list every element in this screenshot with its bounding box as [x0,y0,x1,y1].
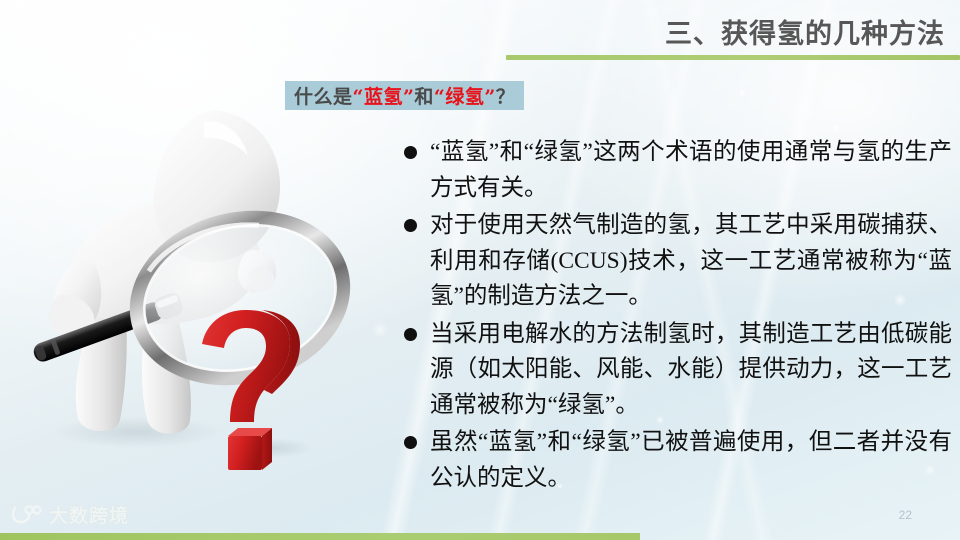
page-number: 22 [899,508,912,522]
watermark-text: 大数跨境 [49,501,129,528]
bullet-dot-icon [404,328,417,341]
subtitle-lead-text: 什么是 [294,82,353,109]
bullet-dot-icon [404,436,417,449]
list-item: “蓝氢”和“绿氢”这两个术语的使用通常与氢的生产方式有关。 [404,135,952,206]
list-item: 对于使用天然气制造的氢，其工艺中采用碳捕获、利用和存储(CCUS)技术，这一工艺… [404,208,952,315]
list-item: 虽然“蓝氢”和“绿氢”已被普遍使用，但二者并没有公认的定义。 [404,425,952,496]
list-item: 当采用电解水的方法制氢时，其制造工艺由低碳能源（如太阳能、风能、水能）提供动力，… [404,317,952,424]
bullet-text: 当采用电解水的方法制氢时，其制造工艺由低碳能源（如太阳能、风能、水能）提供动力，… [430,317,952,424]
3d-person-with-magnifier-icon [8,100,378,470]
bullet-dot-icon [404,219,417,232]
bullet-text: 虽然“蓝氢”和“绿氢”已被普遍使用，但二者并没有公认的定义。 [430,425,952,496]
subtitle-conjunction: 和 [414,82,434,109]
illustration-3d-person-with-magnifier [8,100,378,470]
subtitle-term-blue-hydrogen: “蓝氢” [353,82,415,109]
header-underline-rule [506,55,960,60]
footer-accent-bar [0,533,640,540]
smiley-circle-logo-icon [12,505,42,525]
bullet-list: “蓝氢”和“绿氢”这两个术语的使用通常与氢的生产方式有关。 对于使用天然气制造的… [404,135,952,498]
page-title: 三、获得氢的几种方法 [505,12,945,51]
subtitle-question-mark: ？ [496,82,516,109]
subtitle-highlight-band: 什么是 “蓝氢” 和 “绿氢” ？ [285,81,524,110]
bullet-text: “蓝氢”和“绿氢”这两个术语的使用通常与氢的生产方式有关。 [430,135,952,206]
bullet-text: 对于使用天然气制造的氢，其工艺中采用碳捕获、利用和存储(CCUS)技术，这一工艺… [430,208,952,315]
presentation-slide: 三、获得氢的几种方法 什么是 “蓝氢” 和 “绿氢” ？ “蓝氢”和“绿氢”这两… [0,0,960,540]
bullet-dot-icon [404,146,417,159]
subtitle-term-green-hydrogen: “绿氢” [434,82,496,109]
watermark-logo: 大数跨境 [12,501,129,528]
